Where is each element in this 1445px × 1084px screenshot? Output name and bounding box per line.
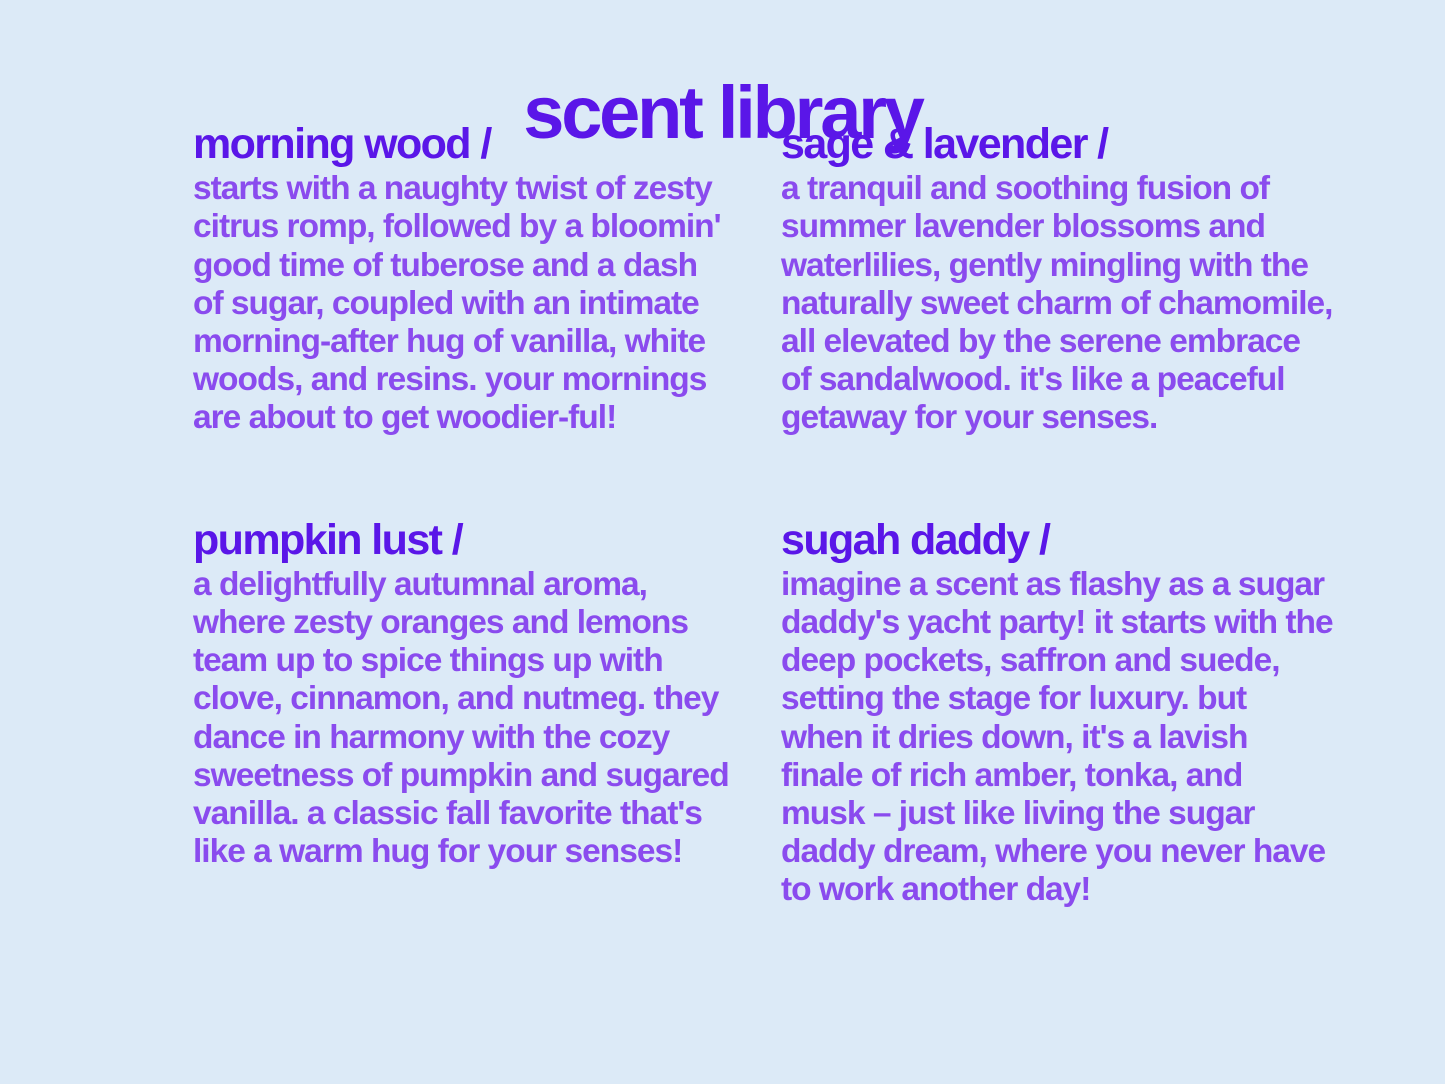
scent-entry-title: sage & lavender / bbox=[781, 122, 1317, 167]
scent-entry-sugah-daddy: sugah daddy / imagine a scent as flashy … bbox=[781, 518, 1317, 910]
scent-library-page: scent library morning wood / starts with… bbox=[0, 0, 1445, 1084]
scent-entry-description: a delightfully autumnal aroma, where zes… bbox=[193, 566, 729, 872]
scent-entry-title: morning wood / bbox=[193, 122, 729, 167]
scent-entries-grid: morning wood / starts with a naughty twi… bbox=[193, 122, 1353, 910]
scent-entry-pumpkin-lust: pumpkin lust / a delightfully autumnal a… bbox=[193, 518, 729, 910]
scent-entry-description: starts with a naughty twist of zesty cit… bbox=[193, 170, 729, 437]
scent-entry-morning-wood: morning wood / starts with a naughty twi… bbox=[193, 122, 729, 438]
scent-entry-title: pumpkin lust / bbox=[193, 518, 729, 563]
scent-entry-sage-and-lavender: sage & lavender / a tranquil and soothin… bbox=[781, 122, 1317, 438]
scent-entry-title: sugah daddy / bbox=[781, 518, 1317, 563]
scent-entry-description: imagine a scent as flashy as a sugar dad… bbox=[781, 566, 1333, 910]
scent-entry-description: a tranquil and soothing fusion of summer… bbox=[781, 170, 1333, 437]
